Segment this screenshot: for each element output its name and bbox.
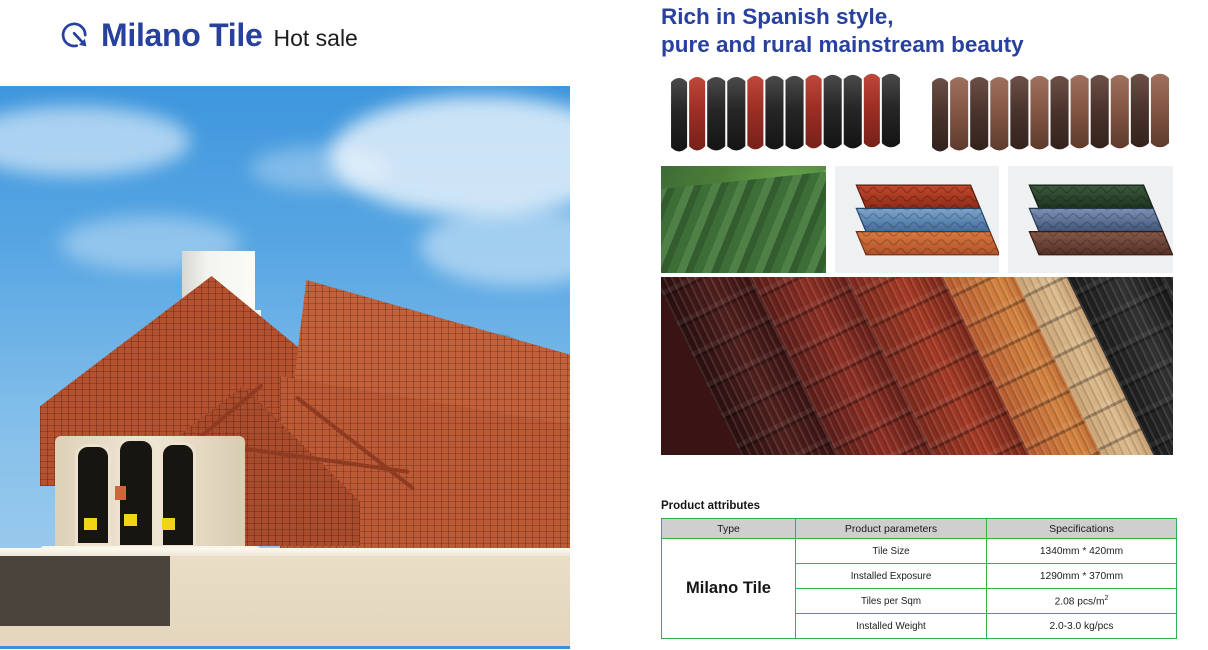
column-header-specifications: Specifications: [987, 519, 1177, 539]
red-blue-orange-tile[interactable]: [835, 166, 1000, 273]
column-header-type: Type: [662, 519, 796, 539]
brand-tagline: Hot sale: [273, 27, 357, 50]
parameter-value: 2.08 pcs/m2: [987, 589, 1177, 614]
product-brochure-page: Milano Tile Hot sale: [0, 0, 1208, 650]
circular-arrow-icon: [58, 18, 92, 52]
parameter-name: Tiles per Sqm: [796, 589, 987, 614]
table-header-row: Type Product parameters Specifications: [662, 519, 1177, 539]
cloud: [250, 146, 390, 191]
shaded-entry: [0, 556, 170, 626]
type-value: Milano Tile: [662, 539, 796, 639]
parameter-value: 2.0-3.0 kg/pcs: [987, 614, 1177, 639]
arched-window: [160, 442, 196, 548]
parameter-value: 1290mm * 370mm: [987, 564, 1177, 589]
page-title: Milano Tile: [101, 19, 262, 51]
section-headline: Rich in Spanish style, pure and rural ma…: [661, 3, 1171, 60]
product-attributes-label: Product attributes: [661, 500, 760, 512]
mid-tile-gallery: [661, 166, 1173, 273]
parameter-value: 1340mm * 420mm: [987, 539, 1177, 564]
top-tile-gallery: [661, 57, 1173, 162]
window-sticker: [84, 518, 97, 530]
black-red-striped-tile[interactable]: [661, 57, 912, 162]
hero-house-photo: [0, 86, 570, 649]
left-column: Milano Tile Hot sale: [0, 0, 600, 650]
table-row: Milano Tile Tile Size 1340mm * 420mm: [662, 539, 1177, 564]
green-roof-photo[interactable]: [661, 166, 826, 273]
headline-line-1: Rich in Spanish style,: [661, 3, 1171, 31]
right-column: Rich in Spanish style, pure and rural ma…: [655, 0, 1175, 650]
headline-line-2: pure and rural mainstream beauty: [661, 31, 1171, 59]
parameter-name: Installed Weight: [796, 614, 987, 639]
arched-window: [75, 444, 111, 546]
darkgreen-blue-brown-tile[interactable]: [1008, 166, 1173, 273]
brand-header: Milano Tile Hot sale: [58, 12, 358, 51]
window-sticker: [162, 518, 175, 530]
parameter-value-text: 2.08 pcs/m: [1055, 596, 1105, 607]
brown-terracotta-tile[interactable]: [922, 57, 1173, 162]
window-sticker: [124, 514, 137, 526]
product-attributes-table: Type Product parameters Specifications M…: [661, 518, 1177, 639]
column-header-parameters: Product parameters: [796, 519, 987, 539]
parameter-value-superscript: 2: [1104, 595, 1108, 602]
parameter-name: Installed Exposure: [796, 564, 987, 589]
window-sticker: [115, 486, 126, 500]
parameter-name: Tile Size: [796, 539, 987, 564]
tile-colour-range-banner[interactable]: [661, 277, 1173, 455]
